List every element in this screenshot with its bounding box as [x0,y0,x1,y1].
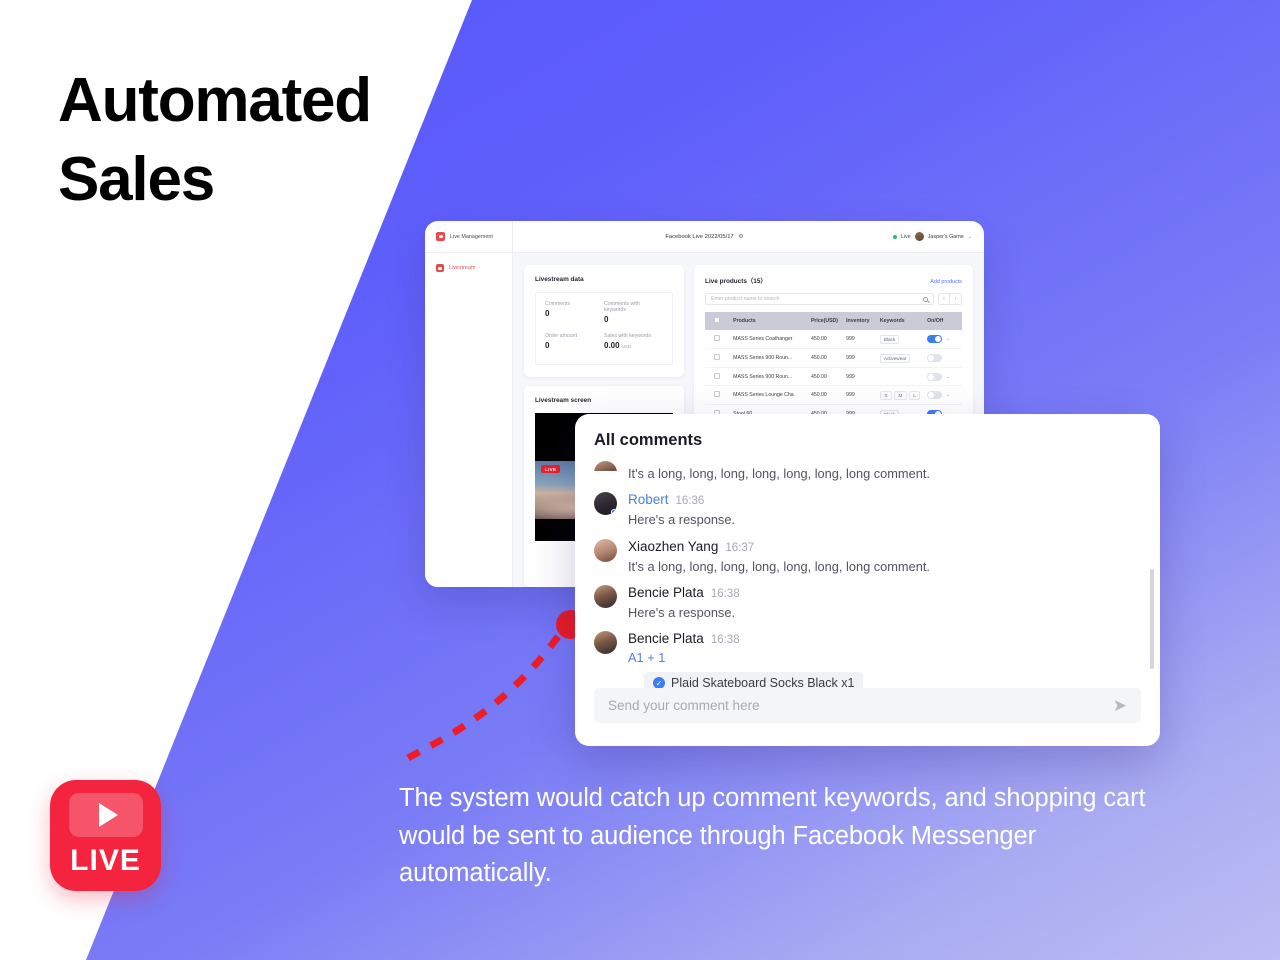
stat-label: Order amount [545,333,604,339]
account-area[interactable]: Live Jasper's Game ⌄ [893,232,984,241]
table-row[interactable]: MASS Series 900 Roun...450.00999⌄ [705,368,962,386]
product-price: 450.00 [811,368,846,386]
row-select-cell[interactable] [705,349,724,368]
avatar-clip [594,461,617,471]
col-header-onoff: On/Off [927,312,962,330]
live-products-card: Live products（15） Add products Enter pro… [694,265,973,420]
comment-text: Here's a response. [628,511,1138,528]
search-placeholder: Enter product name to search [711,296,923,302]
stat-value: 0 [545,309,604,318]
product-inventory: 999 [846,368,880,386]
comment-input[interactable]: Send your comment here ➤ [594,688,1141,723]
table-header-row: Products Price(USD) Inventory Keywords O… [705,312,962,330]
comment-time: 16:38 [711,588,740,600]
products-table: Products Price(USD) Inventory Keywords O… [705,312,962,424]
comment-item: Bencie Plata16:38Here's a response. [594,585,1138,621]
product-onoff[interactable]: ⌄ [927,330,962,349]
col-header-keywords: Keywords [880,312,927,330]
play-icon [99,803,118,827]
table-row[interactable]: MASS Series 900 Roun...450.00999Activewe… [705,349,962,368]
product-thumb-cell [724,368,733,386]
comments-panel: All comments It's a long, long, long, lo… [575,414,1160,746]
dashboard-topbar: Live Management Facebook Live 2022/05/17… [425,221,984,253]
comment-author: Xiaozhen Yang [628,539,718,554]
stats-grid: Comments 0 Comments with keywords 0 Orde… [545,301,663,356]
comment-header: Bencie Plata16:38 [628,631,1138,646]
toggle-knob [928,392,934,398]
caption-text: The system would catch up comment keywor… [399,780,1189,893]
comment-body: Xiaozhen Yang16:37It's a long, long, lon… [628,539,1138,575]
keyword-chip[interactable]: Activewear [880,354,910,363]
avatar [594,539,617,562]
row-select-cell[interactable] [705,368,724,386]
comment-rows: Robert16:36Here's a response.Xiaozhen Ya… [594,492,1138,694]
avatar [594,631,617,654]
stat-comments: Comments 0 [545,301,604,330]
sidebar-item-livestream[interactable]: Livestream [436,264,512,272]
row-checkbox[interactable] [714,373,720,379]
product-thumb-cell [724,349,733,368]
row-checkbox[interactable] [714,391,720,397]
livestream-screen-title: Livestream screen [535,397,673,404]
stat-unit: USD [622,344,632,349]
comment-header: Bencie Plata16:38 [628,585,1138,600]
col-header-products: Products [733,312,811,330]
stat-label: Comments [545,301,604,307]
avatar [594,461,617,471]
live-badge-screen [69,793,143,837]
comment-body: Robert16:36Here's a response. [628,492,1138,528]
row-select-cell[interactable] [705,386,724,405]
comment-author: Bencie Plata [628,631,704,646]
row-expand-chevron-down-icon[interactable]: ⌄ [946,336,950,342]
onoff-toggle[interactable] [927,335,942,343]
live-badge-label: LIVE [70,844,141,878]
products-table-head: Products Price(USD) Inventory Keywords O… [705,312,962,330]
comment-text: Here's a response. [628,604,1138,621]
comment-item: Bencie Plata16:38A1 + 1✓Plaid Skateboard… [594,631,1138,694]
product-thumb-cell [724,330,733,349]
product-inventory: 999 [846,349,880,368]
row-expand-chevron-down-icon[interactable]: ⌄ [946,392,950,398]
product-keywords: Black [880,330,927,349]
avatar [594,585,617,608]
avatar [915,232,924,241]
stat-number: 0.00 [604,341,620,350]
send-icon[interactable]: ➤ [1113,696,1127,716]
product-name: MASS Series Coathanger [733,330,811,349]
product-price: 450.00 [811,349,846,368]
product-keywords: SML [880,386,927,405]
comments-title: All comments [575,414,1160,450]
account-name: Jasper's Game [928,234,964,240]
stat-comments-with-keywords: Comments with keywords 0 [604,301,663,330]
product-price: 450.00 [811,330,846,349]
keyword-chip[interactable]: S [880,391,892,400]
prev-page-button[interactable]: ‹ [938,293,950,305]
comment-item: Xiaozhen Yang16:37It's a long, long, lon… [594,539,1138,575]
live-status-dot-icon [893,235,897,239]
col-header-price: Price(USD) [811,312,846,330]
product-inventory: 999 [846,330,880,349]
row-select-cell[interactable] [705,330,724,349]
comment-text: It's a long, long, long, long, long, lon… [628,558,1138,575]
stat-label: Sales with keywords [604,333,663,339]
stat-value: 0 [604,315,663,324]
dashboard-title-text: Facebook Live 2022/05/17 [665,234,733,240]
stat-label: Comments with keywords [604,301,663,313]
sidebar: Livestream [425,253,513,587]
stats-box: Comments 0 Comments with keywords 0 Orde… [535,292,673,365]
product-keywords [880,368,927,386]
stat-sales-with-keywords: Sales with keywords 0.00USD [604,333,663,356]
livestream-data-card: Livestream data Comments 0 Comments with… [524,265,684,377]
comment-keyword: A1 + 1 [628,650,1138,665]
add-products-button[interactable]: Add products [930,279,962,285]
gear-icon[interactable]: ⚙ [738,234,743,240]
row-checkbox[interactable] [714,335,720,341]
thumb-header [724,312,733,330]
avatar [594,492,617,515]
brand-area[interactable]: Live Management [425,221,513,253]
chevron-down-icon[interactable]: ⌄ [968,234,972,240]
next-page-button[interactable]: › [950,293,962,305]
product-onoff[interactable]: ⌄ [927,386,962,405]
live-badge: LIVE [50,780,161,891]
onoff-toggle[interactable] [927,354,942,362]
onoff-toggle[interactable] [927,391,942,399]
toggle-knob [935,336,941,342]
livestream-icon [436,264,444,272]
sidebar-item-label: Livestream [449,265,475,271]
comment-body: Bencie Plata16:38Here's a response. [628,585,1138,621]
product-price: 450.00 [811,386,846,405]
pagination: ‹ › [938,293,962,305]
keyword-chip[interactable]: Black [880,335,899,344]
table-row[interactable]: MASS Series Lounge Cha450.00999SML⌄ [705,386,962,405]
product-thumb-cell [724,386,733,405]
page-title: Automated Sales [58,62,371,219]
search-icon[interactable] [923,297,928,302]
comment-header: Robert16:36 [628,492,1138,507]
comment-time: 16:37 [725,542,754,554]
product-name: MASS Series 900 Roun... [733,349,811,368]
comment-author[interactable]: Robert [628,492,669,507]
live-tag-badge: LIVE [541,465,560,473]
keyword-chip[interactable]: L [909,391,921,400]
livestream-data-title: Livestream data [535,276,673,283]
row-checkbox[interactable] [714,354,720,360]
product-inventory: 999 [846,386,880,405]
product-keywords: Activewear [880,349,927,368]
comments-list[interactable]: It's a long, long, long, long, long, lon… [575,450,1160,694]
scrollbar[interactable] [1150,569,1154,669]
comment-item: Robert16:36Here's a response. [594,492,1138,528]
onoff-toggle[interactable] [927,373,942,381]
keyword-chip[interactable]: M [894,391,907,400]
row-expand-chevron-down-icon[interactable]: ⌄ [946,374,950,380]
stat-value: 0.00USD [604,341,663,350]
toggle-knob [928,374,934,380]
search-row: Enter product name to search ‹ › [705,293,962,305]
stat-order-amount: Order amount 0 [545,333,604,356]
live-status-label: Live [901,234,911,240]
comment-partial: It's a long, long, long, long, long, lon… [594,461,1138,482]
search-input[interactable]: Enter product name to search [705,293,934,305]
live-products-title: Live products（15） [705,276,767,285]
select-all-checkbox[interactable] [714,317,720,323]
comment-text: It's a long, long, long, long, long, lon… [628,465,930,482]
product-onoff[interactable]: ⌄ [927,368,962,386]
comment-header: Xiaozhen Yang16:37 [628,539,1138,554]
facebook-badge-icon [611,509,617,515]
brand-label: Live Management [450,234,493,240]
comment-body: Bencie Plata16:38A1 + 1✓Plaid Skateboard… [628,631,1138,694]
toggle-knob [928,355,934,361]
products-table-body: MASS Series Coathanger450.00999Black⌄MAS… [705,330,962,424]
comment-input-placeholder: Send your comment here [608,698,1113,713]
table-row[interactable]: MASS Series Coathanger450.00999Black⌄ [705,330,962,349]
brand-logo-icon [436,232,445,241]
product-onoff[interactable] [927,349,962,368]
live-products-header: Live products（15） Add products [705,276,962,285]
select-all-header[interactable] [705,312,724,330]
comment-author: Bencie Plata [628,585,704,600]
comment-time: 16:38 [711,634,740,646]
product-name: MASS Series 900 Roun... [733,368,811,386]
comment-time: 16:36 [676,495,705,507]
product-name: MASS Series Lounge Cha [733,386,811,405]
stat-value: 0 [545,341,604,350]
col-header-inventory: Inventory [846,312,880,330]
